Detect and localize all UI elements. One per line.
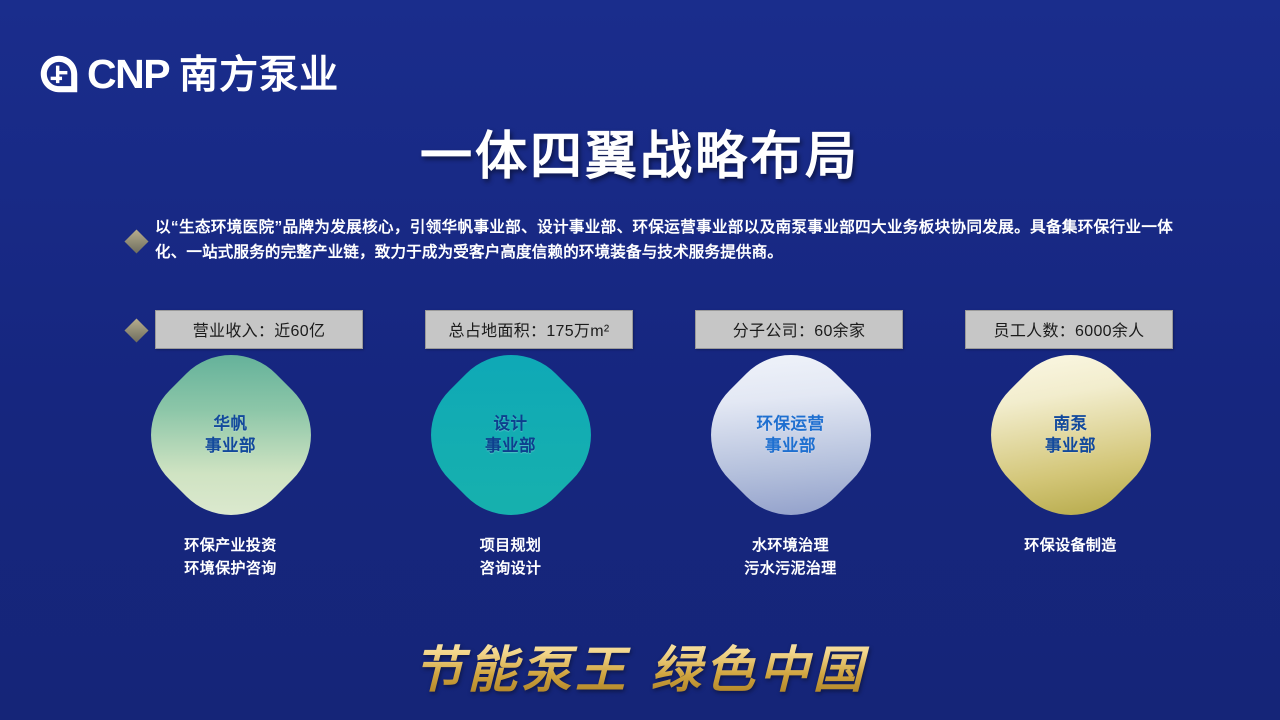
pillar-name-design: 设计 事业部 (485, 413, 536, 458)
stat-revenue: 营业收入：近60亿 (155, 310, 363, 349)
diamond-bullet-icon (124, 229, 148, 253)
pillar-caption-eco-operation: 水环境治理 污水污泥治理 (744, 534, 836, 581)
stat-subsidiaries: 分子公司：60余家 (695, 310, 903, 349)
stats-list: 营业收入：近60亿 总占地面积：175万m² 分子公司：60余家 员工人数：60… (155, 310, 1173, 349)
pillar-eco-operation[interactable]: 环保运营 事业部 水环境治理 污水污泥治理 (688, 360, 893, 581)
pillar-caption-design: 项目规划 咨询设计 (480, 534, 542, 581)
pillar-caption-huafan: 环保产业投资 环境保护咨询 (184, 534, 276, 581)
pillar-shape-huafan: 华帆 事业部 (156, 360, 306, 510)
brand-logo: CNP 南方泵业 (40, 50, 339, 98)
slide-canvas: CNP 南方泵业 一体四翼战略布局 以“生态环境医院”品牌为发展核心，引领华帆事… (0, 0, 1280, 720)
pillar-name-eco-operation: 环保运营 事业部 (757, 413, 825, 458)
stat-employees: 员工人数：6000余人 (965, 310, 1173, 349)
intro-paragraph: 以“生态环境医院”品牌为发展核心，引领华帆事业部、设计事业部、环保运营事业部以及… (155, 215, 1173, 265)
pillar-shape-design: 设计 事业部 (436, 360, 586, 510)
brand-chinese-name: 南方泵业 (179, 56, 339, 95)
pillar-shape-eco-operation: 环保运营 事业部 (716, 360, 866, 510)
pillar-huafan[interactable]: 华帆 事业部 环保产业投资 环境保护咨询 (128, 360, 333, 581)
cnp-monogram-icon (40, 55, 78, 93)
pillar-caption-nanbeng: 环保设备制造 (1024, 534, 1116, 557)
pillar-nanbeng[interactable]: 南泵 事业部 环保设备制造 (968, 360, 1173, 581)
slogan: 节能泵王 绿色中国 (0, 630, 1280, 702)
pillar-name-nanbeng: 南泵 事业部 (1045, 413, 1096, 458)
pillar-shape-nanbeng: 南泵 事业部 (996, 360, 1146, 510)
brand-latin-name: CNP (87, 54, 169, 95)
pillars-row: 华帆 事业部 环保产业投资 环境保护咨询 设计 事业部 项目规划 咨询设计 环保… (128, 360, 1173, 581)
pillar-name-huafan: 华帆 事业部 (205, 413, 256, 458)
stat-land-area: 总占地面积：175万m² (425, 310, 633, 349)
brand-wordmark: CNP 南方泵业 (87, 54, 339, 95)
page-title: 一体四翼战略布局 (0, 128, 1280, 186)
pillar-design[interactable]: 设计 事业部 项目规划 咨询设计 (408, 360, 613, 581)
stats-block: 营业收入：近60亿 总占地面积：175万m² 分子公司：60余家 员工人数：60… (128, 310, 1173, 349)
diamond-bullet-icon (124, 318, 148, 342)
intro-block: 以“生态环境医院”品牌为发展核心，引领华帆事业部、设计事业部、环保运营事业部以及… (128, 215, 1173, 265)
